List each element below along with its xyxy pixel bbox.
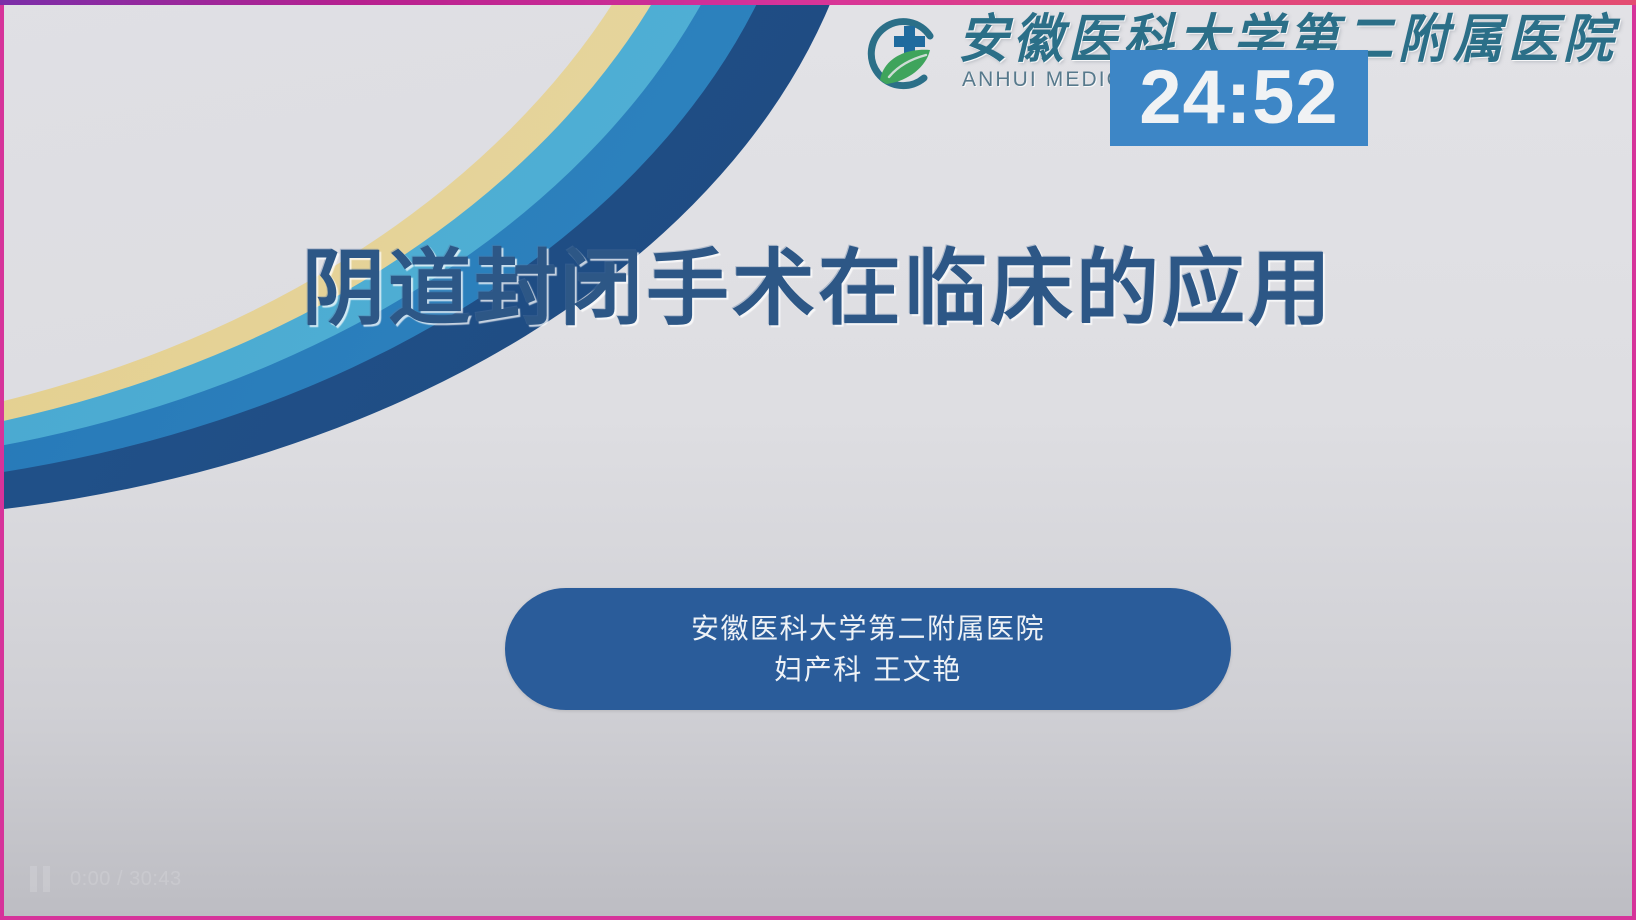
presenter-pill: 安徽医科大学第二附属医院 妇产科 王文艳 (505, 588, 1231, 710)
hospital-circle-cross-leaf-logo-icon (856, 6, 948, 98)
countdown-timer-value: 24:52 (1139, 60, 1338, 136)
countdown-timer-badge: 24:52 (1110, 50, 1368, 146)
presentation-slide-frame: 安徽医科大学第二附属医院 ANHUI MEDICAL UNIVERSITY 24… (0, 0, 1636, 920)
presenter-institution: 安徽医科大学第二附属医院 (691, 611, 1045, 646)
presenter-department-and-name: 妇产科 王文艳 (774, 652, 961, 687)
slide-title: 阴道封闭手术在临床的应用 (0, 243, 1636, 334)
slide-title-text: 阴道封闭手术在临床的应用 (302, 243, 1334, 334)
slide-background (4, 4, 1632, 916)
pause-icon[interactable] (30, 866, 52, 892)
video-time-display: 0:00 / 30:43 (70, 868, 182, 891)
video-player-controls[interactable]: 0:00 / 30:43 (30, 866, 182, 892)
